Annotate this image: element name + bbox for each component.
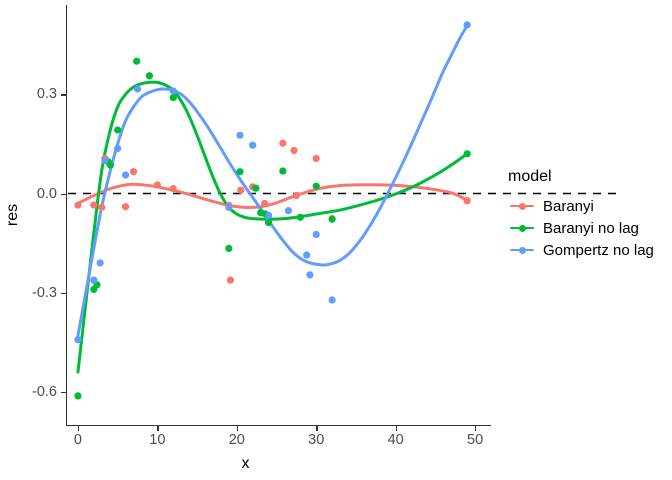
data-point xyxy=(134,85,141,92)
data-point xyxy=(146,72,153,79)
data-point xyxy=(114,126,121,133)
data-point xyxy=(74,392,81,399)
data-point xyxy=(114,145,121,152)
data-point xyxy=(101,157,108,164)
legend-entries: BaranyiBaranyi no lagGompertz no lag xyxy=(508,195,672,261)
data-point xyxy=(285,207,292,214)
fit-curve-gompertz-no-lag xyxy=(78,26,467,336)
data-point xyxy=(236,132,243,139)
data-point xyxy=(133,58,140,65)
data-point xyxy=(225,245,232,252)
data-point xyxy=(265,219,272,226)
legend-key-point xyxy=(519,203,526,210)
data-point xyxy=(313,155,320,162)
legend-item-gompertz-no-lag[interactable]: Gompertz no lag xyxy=(508,239,672,261)
data-point xyxy=(170,87,177,94)
legend-item-label: Baranyi no lag xyxy=(543,220,639,237)
data-point xyxy=(170,94,177,101)
data-point xyxy=(90,201,97,208)
data-point xyxy=(154,181,161,188)
legend-item-label: Gompertz no lag xyxy=(543,242,654,259)
data-point xyxy=(97,259,104,266)
data-point xyxy=(313,183,320,190)
legend-title: model xyxy=(508,168,672,186)
data-point xyxy=(306,271,313,278)
data-point xyxy=(236,168,243,175)
data-point xyxy=(90,277,97,284)
data-point xyxy=(225,204,232,211)
chart-root: 0.30.0-0.3-0.6 01020304050 res x model B… xyxy=(0,0,672,480)
legend-key-point xyxy=(519,225,526,232)
data-point xyxy=(464,150,471,157)
data-point xyxy=(252,185,259,192)
legend-key-swatch xyxy=(508,217,536,239)
data-point xyxy=(249,142,256,149)
data-point xyxy=(107,161,114,168)
legend-key-point xyxy=(519,247,526,254)
data-point xyxy=(122,203,129,210)
data-point xyxy=(74,201,81,208)
data-point xyxy=(74,336,81,343)
data-point xyxy=(464,21,471,28)
legend-item-label: Baranyi xyxy=(543,198,594,215)
data-point xyxy=(170,185,177,192)
legend-key-swatch xyxy=(508,195,536,217)
data-point xyxy=(130,168,137,175)
data-point xyxy=(303,251,310,258)
legend-item-baranyi[interactable]: Baranyi xyxy=(508,195,672,217)
data-point xyxy=(265,212,272,219)
data-point xyxy=(293,192,300,199)
data-point xyxy=(122,171,129,178)
data-point xyxy=(297,214,304,221)
data-point xyxy=(279,167,286,174)
legend-key-swatch xyxy=(508,239,536,261)
data-point xyxy=(237,187,244,194)
legend-item-baranyi-no-lag[interactable]: Baranyi no lag xyxy=(508,217,672,239)
legend: model BaranyiBaranyi no lagGompertz no l… xyxy=(508,168,672,261)
data-point xyxy=(290,147,297,154)
data-point xyxy=(329,296,336,303)
data-point xyxy=(227,277,234,284)
data-point xyxy=(98,204,105,211)
data-point xyxy=(329,216,336,223)
data-point xyxy=(313,231,320,238)
data-point xyxy=(261,200,268,207)
data-point xyxy=(464,197,471,204)
data-point xyxy=(279,140,286,147)
